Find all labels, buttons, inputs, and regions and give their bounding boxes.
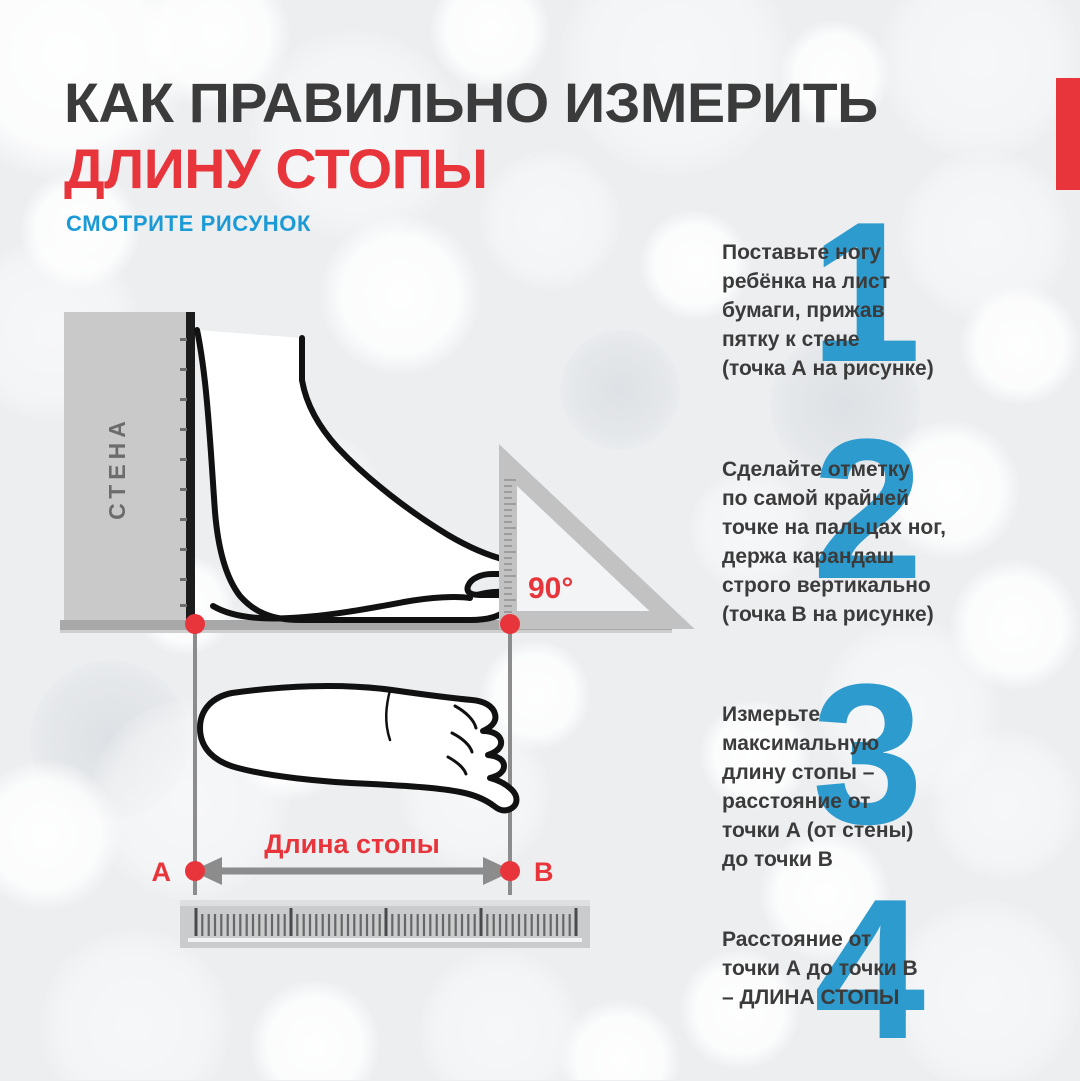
step-1-text: Поставьте ногу ребёнка на лист бумаги, п… [722, 238, 1052, 383]
point-a-dot [185, 861, 205, 881]
step-2: 2 Сделайте отметку по самой крайней точк… [722, 455, 1052, 629]
point-a-label: А [152, 857, 172, 887]
step-2-text: Сделайте отметку по самой крайней точке … [722, 455, 1052, 629]
step-3-text: Измерьте максимальную длину стопы – расс… [722, 700, 1052, 874]
floor-line-shadow [60, 630, 672, 633]
corner-accent-bar [1056, 78, 1080, 190]
point-b-label: В [534, 857, 554, 887]
point-b-floor-dot [500, 614, 520, 634]
step-3: 3 Измерьте максимальную длину стопы – ра… [722, 700, 1052, 874]
step-4: 4 Расстояние от точки А до точки В – ДЛИ… [722, 925, 1052, 1012]
wall-label: СТЕНА [104, 416, 130, 520]
length-dimension-label: Длина стопы [264, 829, 440, 859]
length-dimension-arrow [192, 857, 513, 885]
step-4-text: Расстояние от точки А до точки В – ДЛИНА… [722, 925, 1052, 1012]
measuring-ruler [180, 900, 590, 948]
foot-measurement-diagram: СТЕНА [0, 0, 700, 1080]
wall-edge-line [186, 312, 195, 624]
point-b-dot [500, 861, 520, 881]
point-a-floor-dot [185, 614, 205, 634]
right-angle-label: 90° [528, 572, 573, 605]
foot-side-outline [197, 330, 509, 620]
step-1: 1 Поставьте ногу ребёнка на лист бумаги,… [722, 238, 1052, 383]
